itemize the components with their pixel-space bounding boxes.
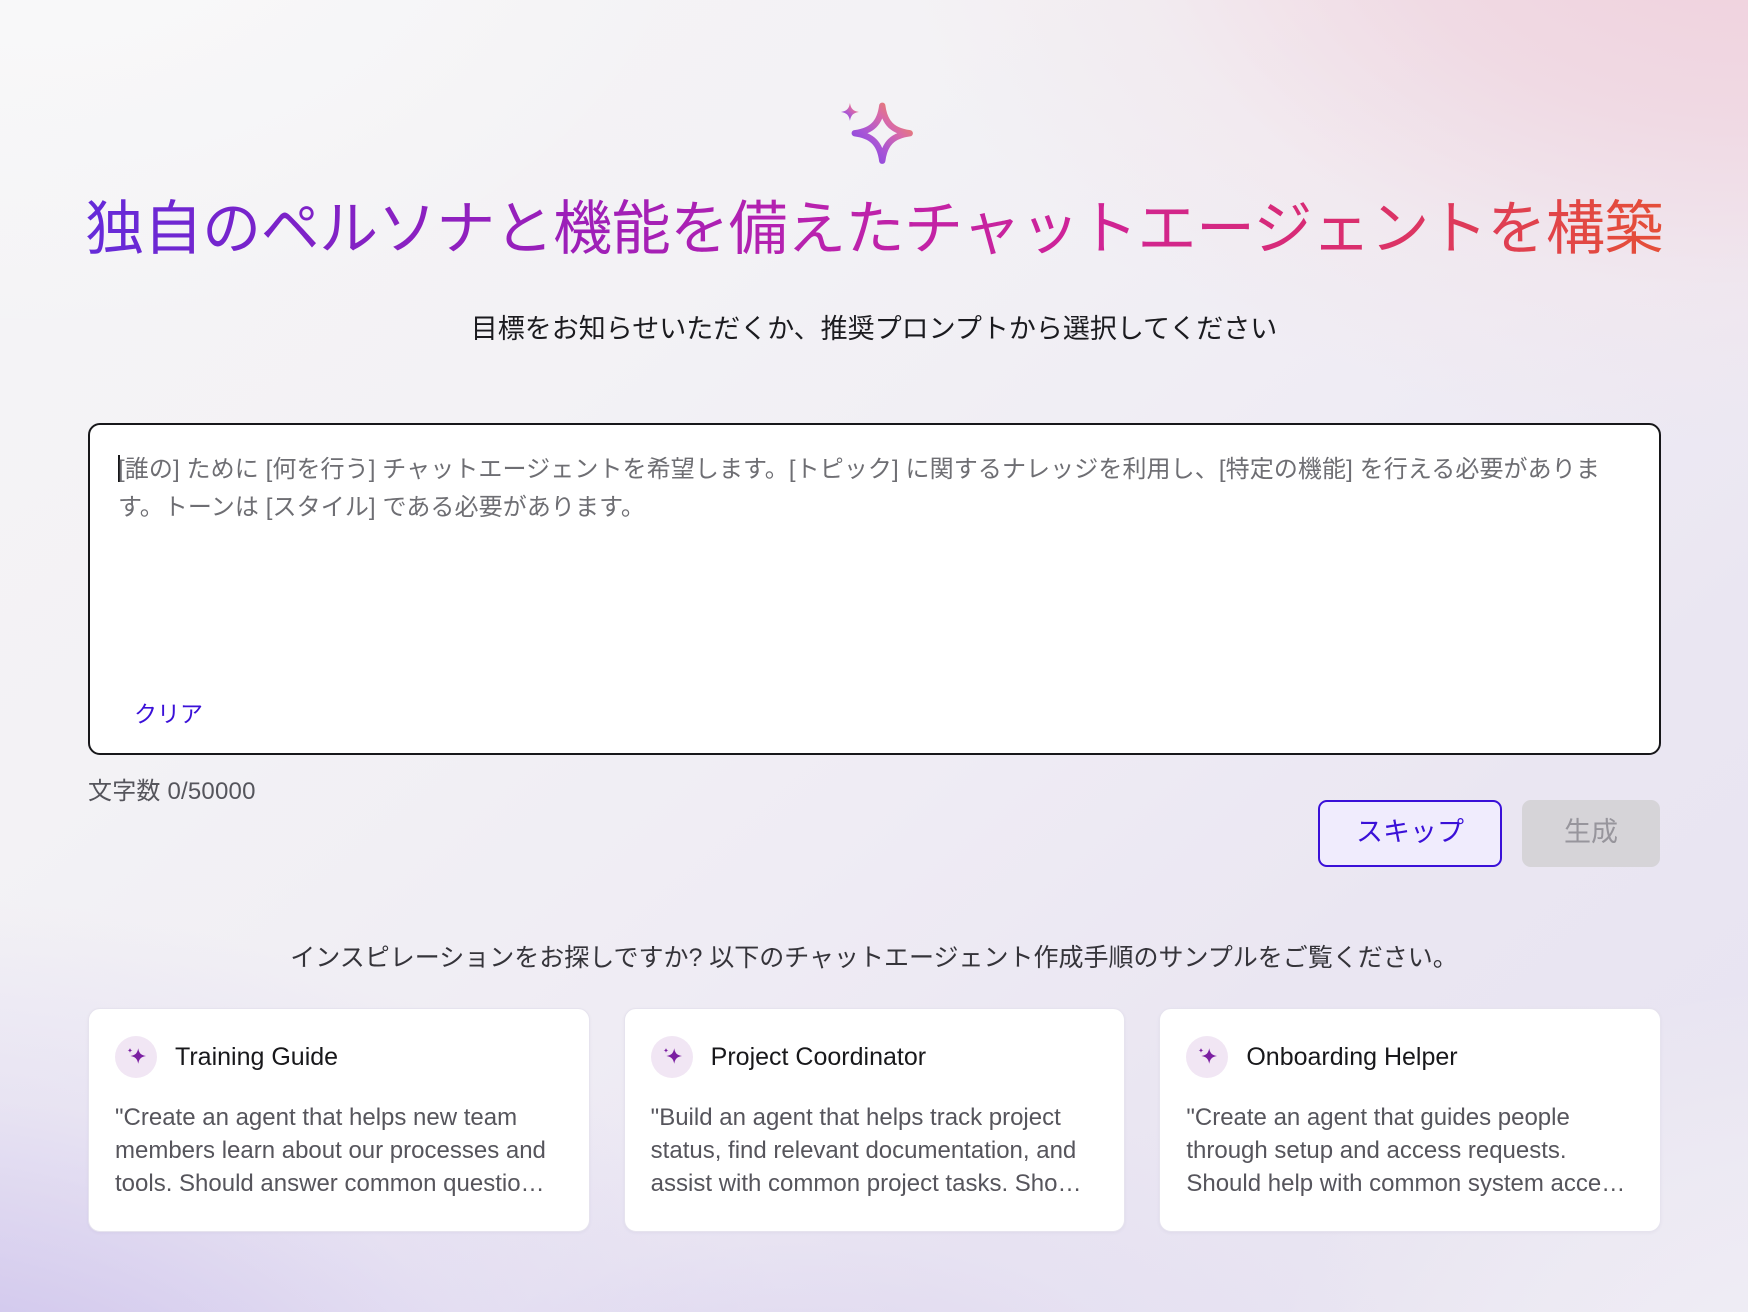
sparkle-icon [1186,1036,1228,1078]
card-header: Project Coordinator [651,1036,1099,1078]
generate-button: 生成 [1522,800,1660,867]
clear-button[interactable]: クリア [134,695,203,729]
card-body: "Create an agent that guides people thro… [1186,1102,1634,1201]
page-subtitle: 目標をお知らせいただくか、推奨プロンプトから選択してください [0,307,1748,346]
action-buttons: スキップ 生成 [1318,800,1660,867]
prompt-textarea[interactable]: [誰の] ために [何を行う] チャットエージェントを希望します。[トピック] … [88,423,1661,755]
card-body: "Create an agent that helps new team mem… [115,1102,563,1201]
card-title: Training Guide [175,1043,338,1072]
prompt-section: [誰の] ために [何を行う] チャットエージェントを希望します。[トピック] … [88,423,1661,806]
card-header: Training Guide [115,1036,563,1078]
prompt-placeholder-text: [誰の] ために [何を行う] チャットエージェントを希望します。[トピック] … [118,451,1631,527]
sparkle-icon [115,1036,157,1078]
card-header: Onboarding Helper [1186,1036,1634,1078]
sparkle-icon [651,1036,693,1078]
card-body: "Build an agent that helps track project… [651,1102,1099,1201]
sample-card-project-coordinator[interactable]: Project Coordinator "Build an agent that… [624,1008,1126,1232]
sample-cards-list: Training Guide "Create an agent that hel… [88,1008,1661,1232]
sample-card-training-guide[interactable]: Training Guide "Create an agent that hel… [88,1008,590,1232]
agent-builder-page: 独自のペルソナと機能を備えたチャットエージェントを構築 目標をお知らせいただくか… [0,0,1748,1312]
hero-icon-container [0,92,1748,180]
prompt-placeholder-label: [誰の] ために [何を行う] チャットエージェントを希望します。[トピック] … [118,456,1600,521]
inspiration-heading: インスピレーションをお探しですか? 以下のチャットエージェント作成手順のサンプル… [0,938,1748,974]
sparkle-icon [830,92,918,180]
card-title: Project Coordinator [711,1043,926,1072]
sample-card-onboarding-helper[interactable]: Onboarding Helper "Create an agent that … [1159,1008,1661,1232]
skip-button[interactable]: スキップ [1318,800,1502,867]
page-title: 独自のペルソナと機能を備えたチャットエージェントを構築 [0,195,1748,265]
card-title: Onboarding Helper [1246,1043,1457,1072]
